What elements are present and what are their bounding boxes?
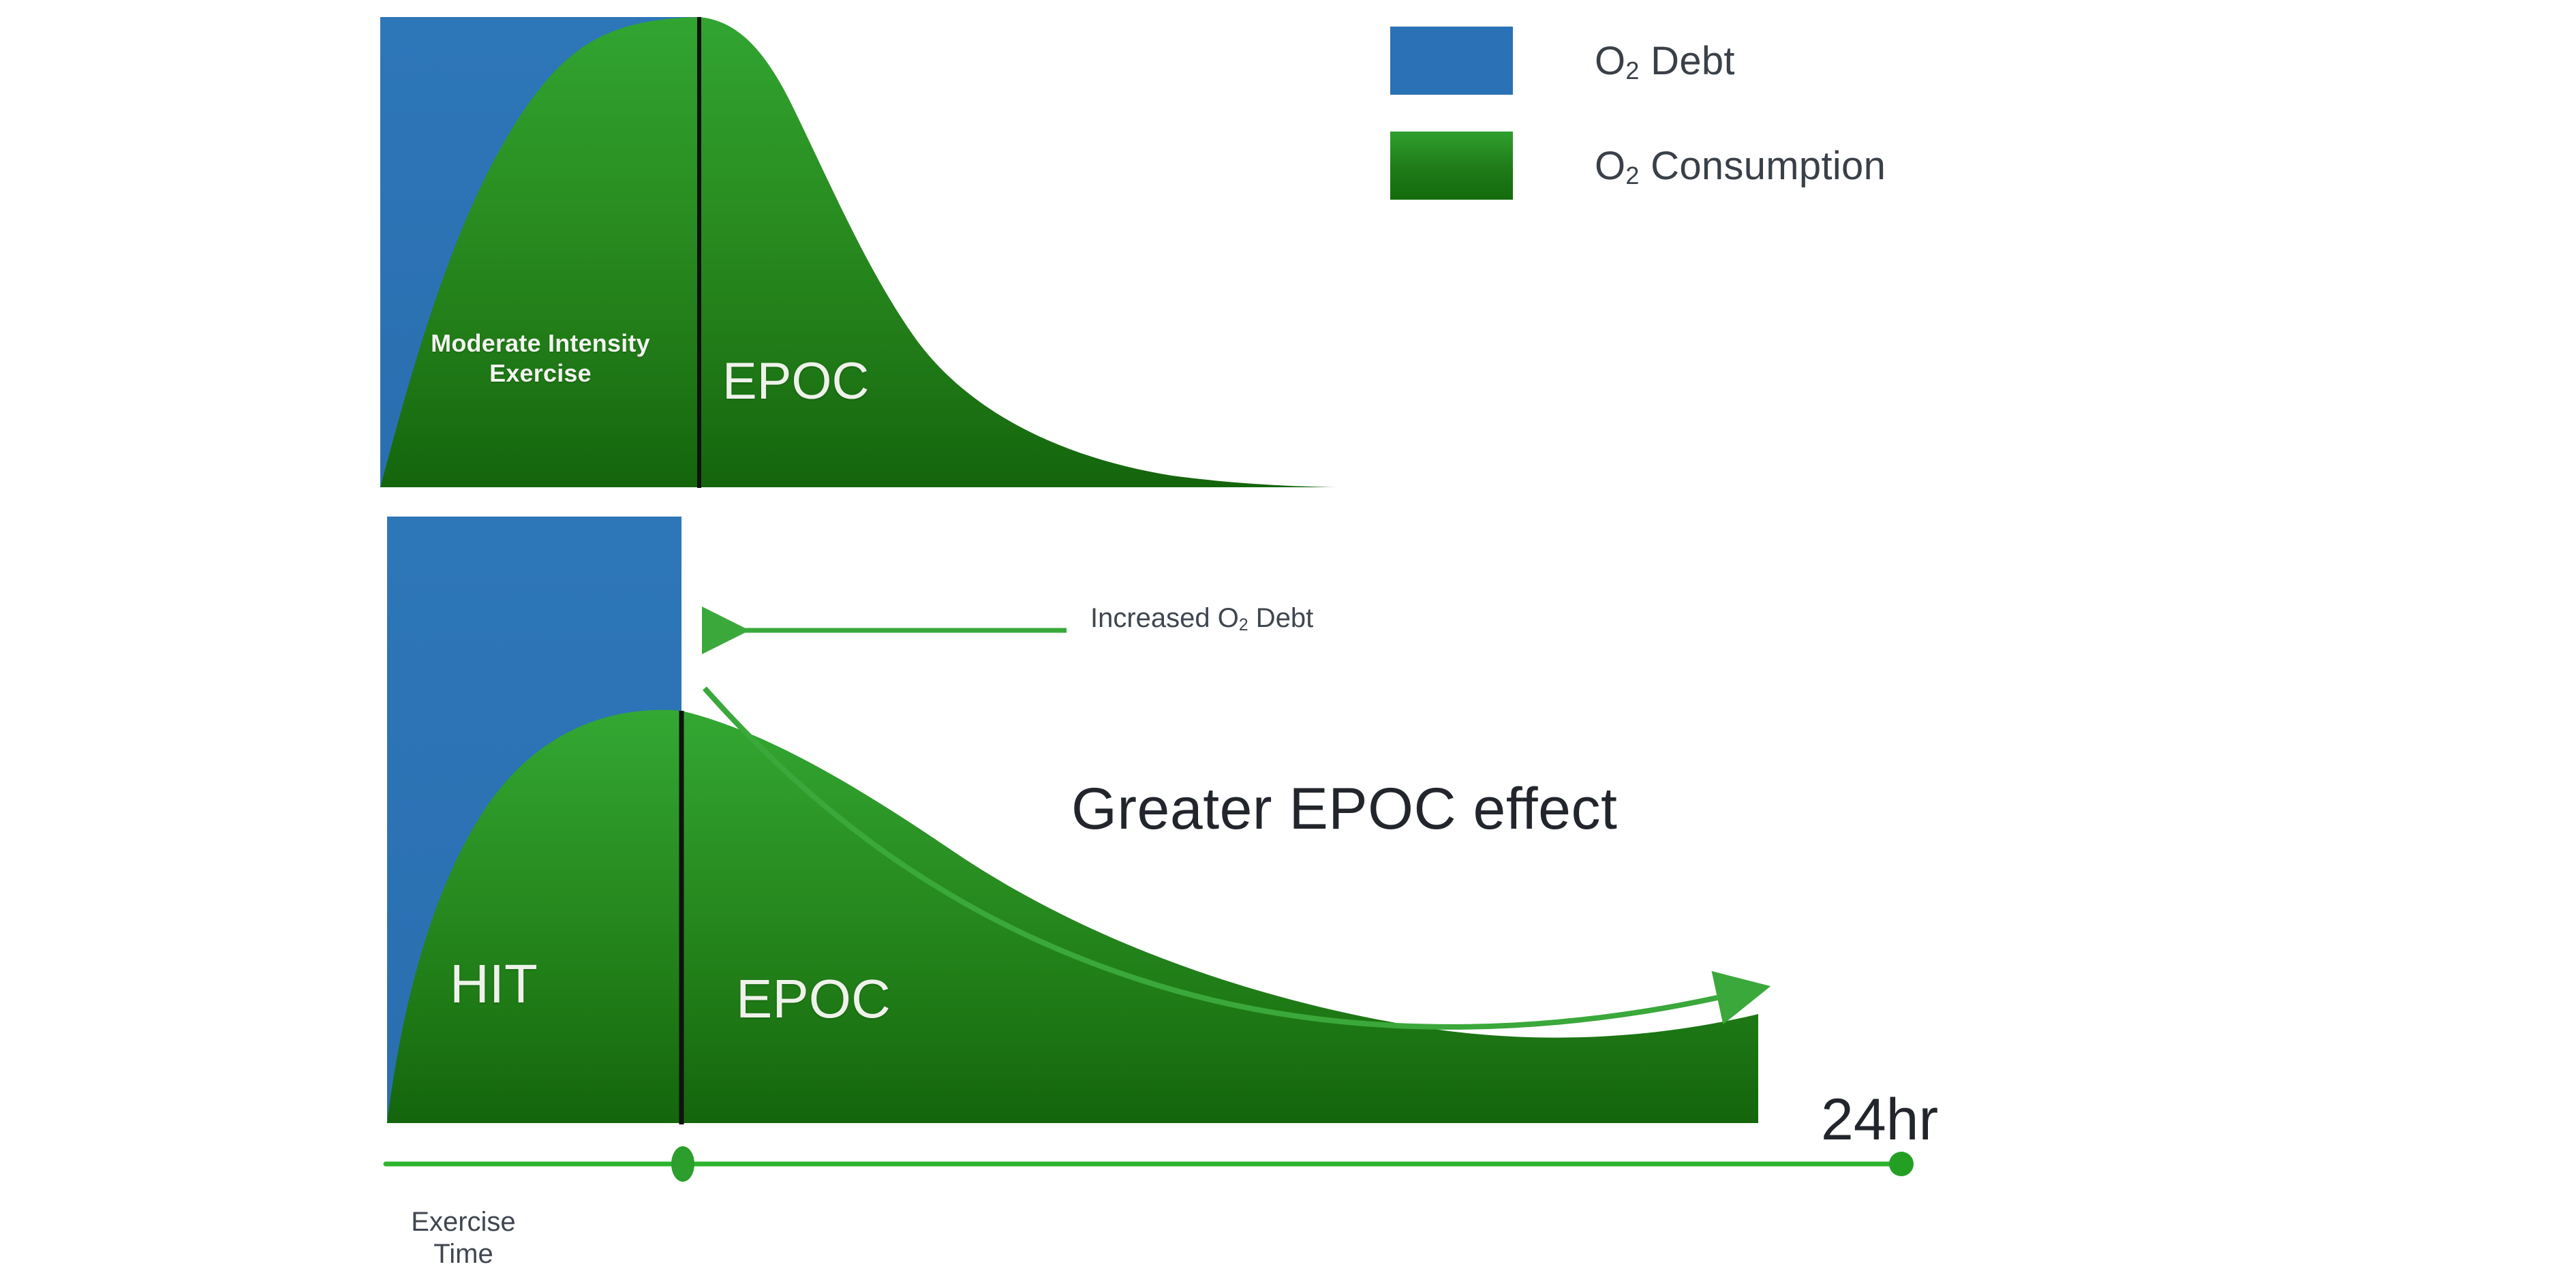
top-exercise-label-line2: Exercise bbox=[489, 359, 592, 387]
legend-label-o2-debt: O2 Debt bbox=[1595, 38, 1735, 84]
epoc-diagram-svg bbox=[0, 0, 2576, 1288]
bottom-epoc-label: EPOC bbox=[736, 968, 891, 1030]
chart-moderate-intensity bbox=[380, 17, 1336, 488]
axis-label-line2: Time bbox=[433, 1239, 493, 1269]
time-axis bbox=[386, 1146, 1914, 1182]
legend-swatch-o2-debt bbox=[1390, 27, 1513, 95]
legend-item-o2-consumption[interactable]: O2 Consumption bbox=[1390, 125, 1886, 206]
bottom-exercise-label: HIT bbox=[450, 953, 538, 1015]
top-exercise-label-line1: Moderate Intensity bbox=[431, 329, 650, 357]
duration-label: 24hr bbox=[1821, 1086, 1938, 1154]
diagram-canvas: Moderate Intensity Exercise EPOC HIT EPO… bbox=[0, 0, 2576, 1288]
axis-label-line1: Exercise bbox=[411, 1207, 515, 1237]
greater-epoc-annotation: Greater EPOC effect bbox=[1071, 776, 1617, 843]
legend-label-o2-consumption: O2 Consumption bbox=[1595, 143, 1886, 189]
legend-item-o2-debt[interactable]: O2 Debt bbox=[1390, 20, 1886, 101]
increased-debt-annotation: Increased O2 Debt bbox=[1090, 603, 1313, 634]
bottom-o2-consumption-area bbox=[387, 710, 1758, 1123]
time-axis-end-marker bbox=[1889, 1152, 1914, 1176]
legend-swatch-o2-consumption bbox=[1390, 132, 1513, 200]
axis-label: Exercise Time bbox=[382, 1206, 545, 1270]
top-epoc-label: EPOC bbox=[722, 352, 869, 411]
top-exercise-label: Moderate Intensity Exercise bbox=[380, 328, 701, 388]
legend: O2 Debt O2 Consumption bbox=[1390, 20, 1886, 230]
time-axis-exercise-marker bbox=[671, 1146, 694, 1182]
